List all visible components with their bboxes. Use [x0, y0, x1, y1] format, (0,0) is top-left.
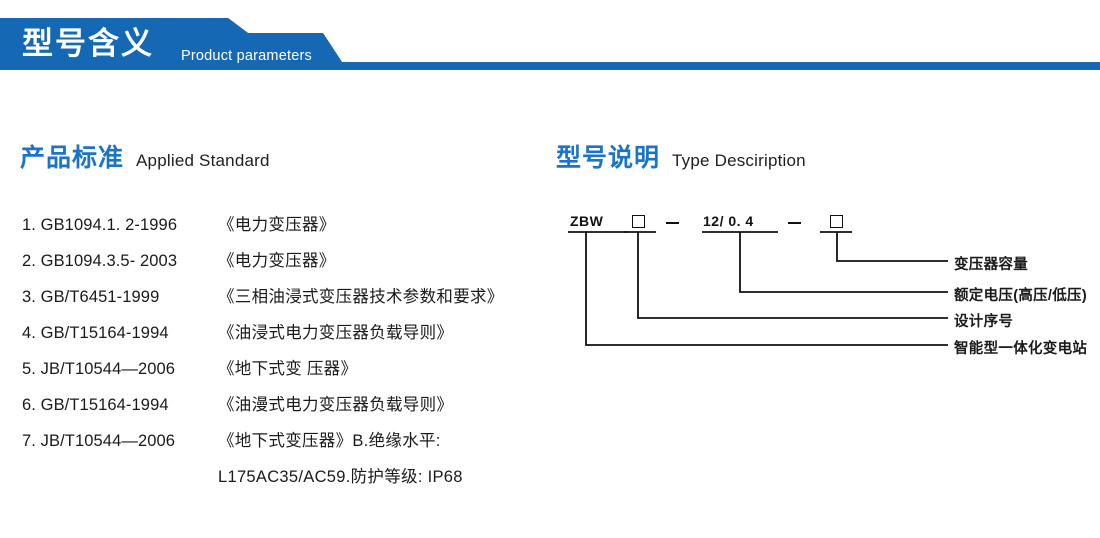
standard-row: 6. GB/T15164-1994《油漫式电力变压器负载导则》	[22, 391, 542, 427]
applied-standard-heading-en: Applied Standard	[136, 151, 270, 170]
standard-name: 《电力变压器》	[218, 211, 336, 235]
callout-label-rated-voltage: 额定电压(高压/低压)	[954, 284, 1087, 305]
banner-shape	[0, 0, 1100, 90]
standard-name: 《油漫式电力变压器负载导则》	[218, 391, 453, 415]
standard-name: 《地下式变 压器》	[218, 355, 357, 379]
callout-label-design-serial: 设计序号	[954, 310, 1013, 331]
standard-row: L175AC35/AC59.防护等级: IP68	[22, 463, 542, 499]
banner-title-cn: 型号含义	[22, 26, 154, 62]
standard-name: 《地下式变压器》B.绝缘水平:	[218, 427, 441, 451]
type-designation-diagram: ZBW 12/ 0. 4 变压器容量 额定电压(高压/低压) 设计序号 智能型一…	[556, 205, 1100, 365]
standard-row: 7. JB/T10544—2006《地下式变压器》B.绝缘水平:	[22, 427, 542, 463]
standard-code: 5. JB/T10544—2006	[22, 360, 218, 379]
type-description-heading-en: Type Desciription	[672, 151, 806, 170]
model-code-prefix: ZBW	[570, 213, 603, 229]
applied-standard-heading-cn: 产品标准	[20, 144, 124, 172]
standard-row: 2. GB1094.3.5- 2003《电力变压器》	[22, 247, 542, 283]
standard-row: 5. JB/T10544—2006《地下式变 压器》	[22, 355, 542, 391]
model-code-dash-1	[666, 222, 679, 224]
standard-row: 3. GB/T6451-1999《三相油浸式变压器技术参数和要求》	[22, 283, 542, 319]
standard-code: 6. GB/T15164-1994	[22, 396, 218, 415]
model-code-dash-2	[788, 222, 801, 224]
type-description-heading-cn: 型号说明	[556, 144, 660, 172]
standard-row: 1. GB1094.1. 2-1996《电力变压器》	[22, 211, 542, 247]
standard-code: 3. GB/T6451-1999	[22, 288, 218, 307]
applied-standard-heading: 产品标准Applied Standard	[20, 138, 270, 174]
model-code-design-box	[632, 215, 645, 228]
standard-code: 2. GB1094.3.5- 2003	[22, 252, 218, 271]
standards-list: 1. GB1094.1. 2-1996《电力变压器》2. GB1094.3.5-…	[22, 211, 542, 499]
banner-title-en: Product parameters	[181, 48, 312, 64]
standard-code: 7. JB/T10544—2006	[22, 432, 218, 451]
standard-code: 4. GB/T15164-1994	[22, 324, 218, 343]
type-description-heading: 型号说明Type Desciription	[556, 138, 806, 174]
standard-name: 《油浸式电力变压器负载导则》	[218, 319, 453, 343]
model-code-voltage: 12/ 0. 4	[703, 213, 754, 229]
model-code-capacity-box	[830, 215, 843, 228]
callout-label-substation-type: 智能型一体化变电站	[954, 337, 1087, 358]
callout-label-capacity: 变压器容量	[954, 253, 1028, 274]
standard-name: 《电力变压器》	[218, 247, 336, 271]
standard-name: L175AC35/AC59.防护等级: IP68	[218, 463, 463, 487]
standard-name: 《三相油浸式变压器技术参数和要求》	[218, 283, 504, 307]
page-banner: 型号含义 Product parameters	[0, 0, 1100, 90]
standard-row: 4. GB/T15164-1994《油浸式电力变压器负载导则》	[22, 319, 542, 355]
standard-code: 1. GB1094.1. 2-1996	[22, 216, 218, 235]
